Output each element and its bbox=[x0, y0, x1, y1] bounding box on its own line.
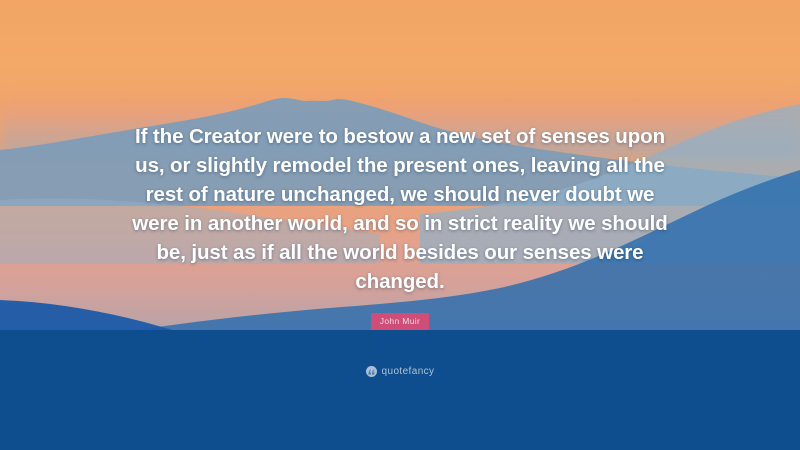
watermark[interactable]: quotefancy bbox=[0, 366, 800, 377]
quote-block: If the Creator were to bestow a new set … bbox=[0, 122, 800, 296]
quote-text: If the Creator were to bestow a new set … bbox=[132, 122, 668, 296]
quote-mark-icon bbox=[366, 366, 377, 377]
watermark-brand: quotefancy bbox=[382, 367, 435, 377]
quote-wallpaper: If the Creator were to bestow a new set … bbox=[0, 0, 800, 450]
author-badge[interactable]: John Muir bbox=[371, 313, 429, 330]
author-row: John Muir bbox=[0, 311, 800, 330]
foreground-base-fill bbox=[0, 330, 800, 450]
